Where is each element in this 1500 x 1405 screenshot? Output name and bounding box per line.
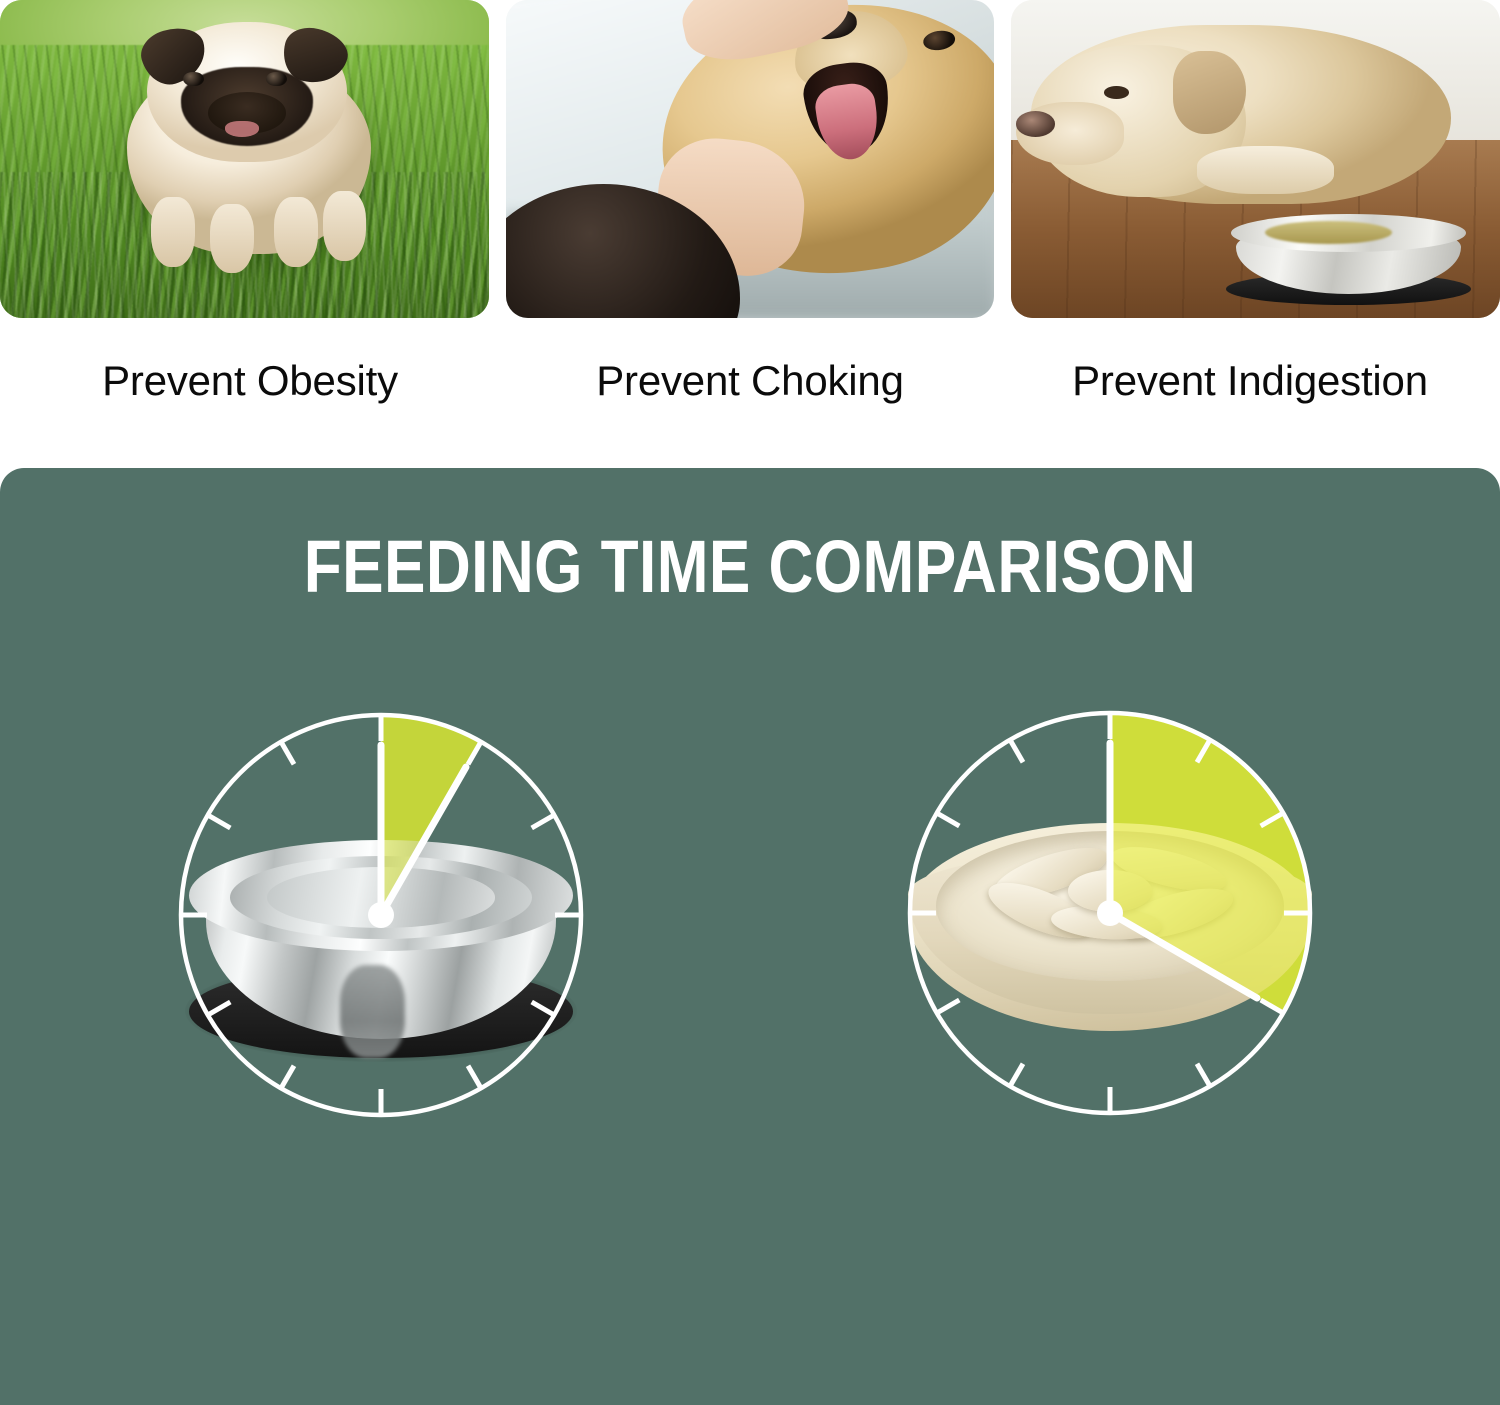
labrador-paw bbox=[1197, 146, 1334, 194]
labrador-eye bbox=[1104, 86, 1128, 99]
pug-eye-left bbox=[183, 72, 204, 87]
benefit-photo-prevent-choking bbox=[506, 0, 995, 318]
clock-dial-slow-feeding-bowl bbox=[902, 705, 1318, 1121]
clock-face-right bbox=[902, 705, 1318, 1121]
benefit-caption-row: Prevent Obesity Prevent Choking Prevent … bbox=[0, 352, 1500, 410]
retriever-tongue bbox=[813, 81, 883, 163]
pug-leg bbox=[323, 191, 367, 261]
benefit-caption-prevent-obesity: Prevent Obesity bbox=[0, 352, 500, 410]
retriever-eye bbox=[923, 29, 957, 52]
clock-face-left bbox=[173, 707, 589, 1123]
pug-tongue bbox=[225, 121, 259, 137]
panel-title: FEEDING TIME COMPARISON bbox=[120, 524, 1380, 609]
benefit-photo-prevent-indigestion bbox=[1011, 0, 1500, 318]
steel-bowl-on-floor bbox=[1226, 210, 1470, 305]
pug-leg bbox=[274, 197, 318, 267]
pug-eye-right bbox=[266, 72, 287, 87]
labrador-nose bbox=[1016, 111, 1055, 136]
benefit-caption-prevent-choking: Prevent Choking bbox=[500, 352, 1000, 410]
benefit-photo-prevent-obesity bbox=[0, 0, 489, 318]
feeding-time-comparison-panel: FEEDING TIME COMPARISON bbox=[0, 468, 1500, 1405]
benefit-caption-prevent-indigestion: Prevent Indigestion bbox=[1000, 352, 1500, 410]
pug-leg bbox=[210, 204, 254, 274]
benefit-photo-strip bbox=[0, 0, 1500, 318]
clock-dial-normal-bowl bbox=[173, 707, 589, 1123]
pug-leg bbox=[151, 197, 195, 267]
